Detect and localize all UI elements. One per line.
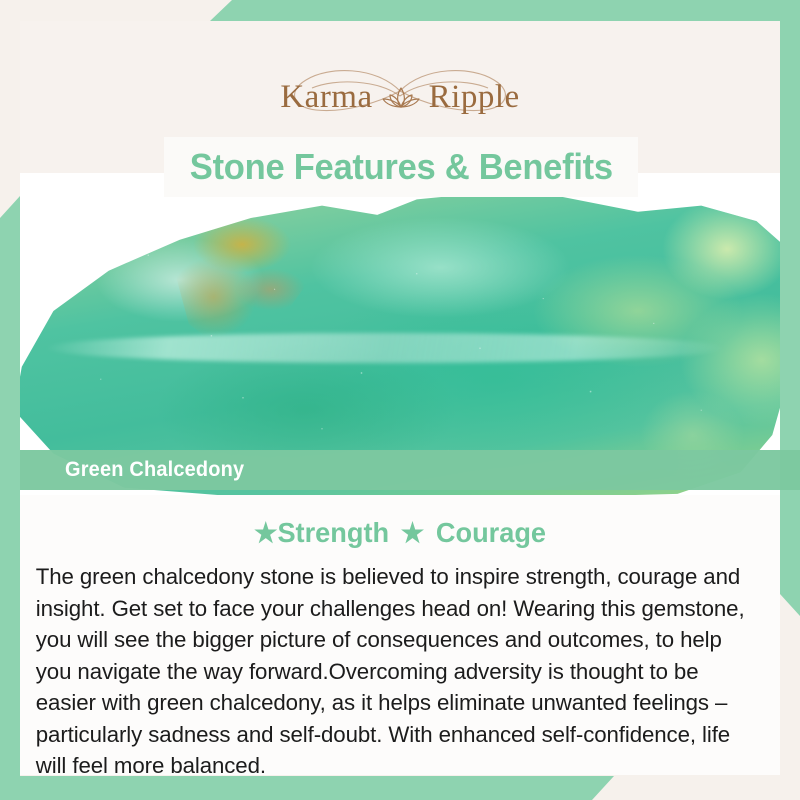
brand-name-right: Ripple [427,79,522,116]
frame-band-left [0,196,20,800]
frame-band-top [210,0,800,21]
keyword-courage: Courage [436,517,546,548]
stone-name-band: Green Chalcedony [20,450,800,490]
gemstone-body [20,187,780,495]
keyword-heading: ★Strength★Courage [31,495,768,553]
lotus-icon [381,83,421,111]
brand-name: Karma Ripple [278,79,521,116]
brand-logo: Karma Ripple [250,58,550,136]
stone-benefits-poster: Karma Ripple [0,0,800,800]
star-icon-courage: ★ [401,518,424,548]
title-banner: Stone Features & Benefits [164,137,638,197]
page-title: Stone Features & Benefits [189,146,612,188]
stone-name-label: Green Chalcedony [65,458,244,482]
gemstone-speckles [20,187,780,495]
body-content: ★Strength★Courage The green chalcedony s… [20,495,780,775]
benefits-paragraph: The green chalcedony stone is believed t… [20,553,769,782]
brand-name-left: Karma [278,79,374,116]
keyword-strength: Strength [277,517,389,548]
star-icon-strength: ★ [254,518,277,548]
frame-band-right [780,0,800,616]
gemstone-photo [20,173,780,495]
